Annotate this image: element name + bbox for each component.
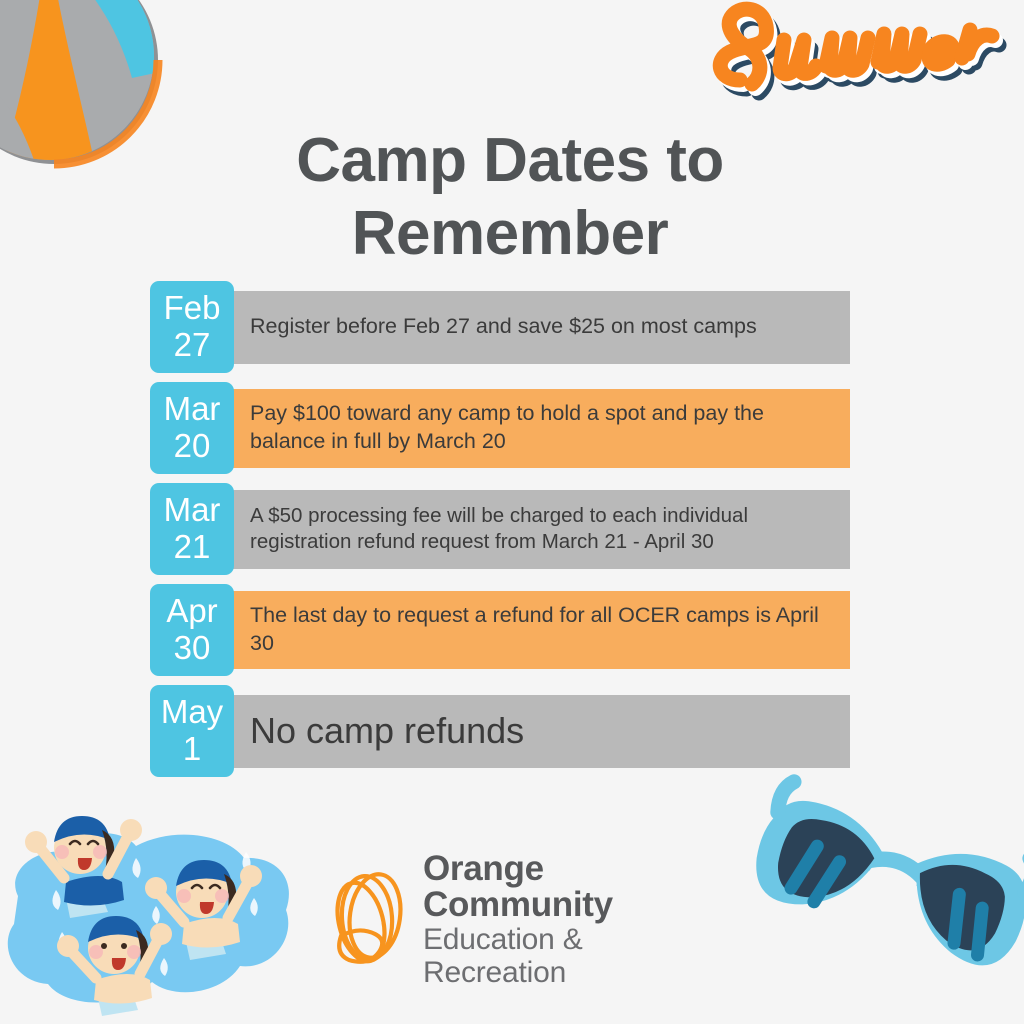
date-chip: Mar 20 <box>150 382 234 474</box>
sunglasses-icon <box>742 772 1024 1024</box>
timeline-row-text: The last day to request a refund for all… <box>230 591 850 669</box>
page-title-line-2: Remember <box>160 197 860 270</box>
timeline-row: Mar 20 Pay $100 toward any camp to hold … <box>150 382 850 474</box>
date-chip-month: Feb <box>164 290 221 327</box>
timeline-row-text: A $50 processing fee will be charged to … <box>230 490 850 569</box>
date-chip-day: 27 <box>174 327 211 364</box>
ocer-footer-logo: Orange Community Education & Recreation <box>327 868 727 972</box>
date-chip: Feb 27 <box>150 281 234 373</box>
date-chip: Apr 30 <box>150 584 234 676</box>
page-title: Camp Dates to Remember <box>160 124 860 270</box>
ocer-logo-line-2: Education & Recreation <box>423 923 727 989</box>
date-chip-month: Mar <box>164 492 221 529</box>
timeline-row: Mar 21 A $50 processing fee will be char… <box>150 483 850 575</box>
poster-canvas: Camp Dates to Remember Feb 27 Register b… <box>0 0 1024 1024</box>
summer-script-logo <box>700 0 1024 108</box>
timeline-row-text: No camp refunds <box>230 695 850 768</box>
date-chip-day: 21 <box>174 529 211 566</box>
timeline-row: May 1 No camp refunds <box>150 685 850 777</box>
date-chip-month: Mar <box>164 391 221 428</box>
timeline-row-text: Register before Feb 27 and save $25 on m… <box>230 291 850 364</box>
timeline-row: Apr 30 The last day to request a refund … <box>150 584 850 676</box>
date-chip-month: May <box>161 694 223 731</box>
date-chip-day: 1 <box>183 731 201 768</box>
ocer-logo-wordmark: Orange Community Education & Recreation <box>423 851 727 988</box>
page-title-line-1: Camp Dates to <box>160 124 860 197</box>
date-chip-day: 20 <box>174 428 211 465</box>
date-chip-day: 30 <box>174 630 211 667</box>
date-chip-month: Apr <box>166 593 217 630</box>
ocer-logo-line-1: Orange Community <box>423 851 727 922</box>
camp-dates-timeline: Feb 27 Register before Feb 27 and save $… <box>150 281 850 786</box>
ocer-logo-mark-icon <box>327 870 419 970</box>
kids-swimming-icon <box>4 786 296 1024</box>
timeline-row: Feb 27 Register before Feb 27 and save $… <box>150 281 850 373</box>
timeline-row-text: Pay $100 toward any camp to hold a spot … <box>230 389 850 468</box>
beach-ball-icon <box>0 0 170 176</box>
date-chip: May 1 <box>150 685 234 777</box>
date-chip: Mar 21 <box>150 483 234 575</box>
